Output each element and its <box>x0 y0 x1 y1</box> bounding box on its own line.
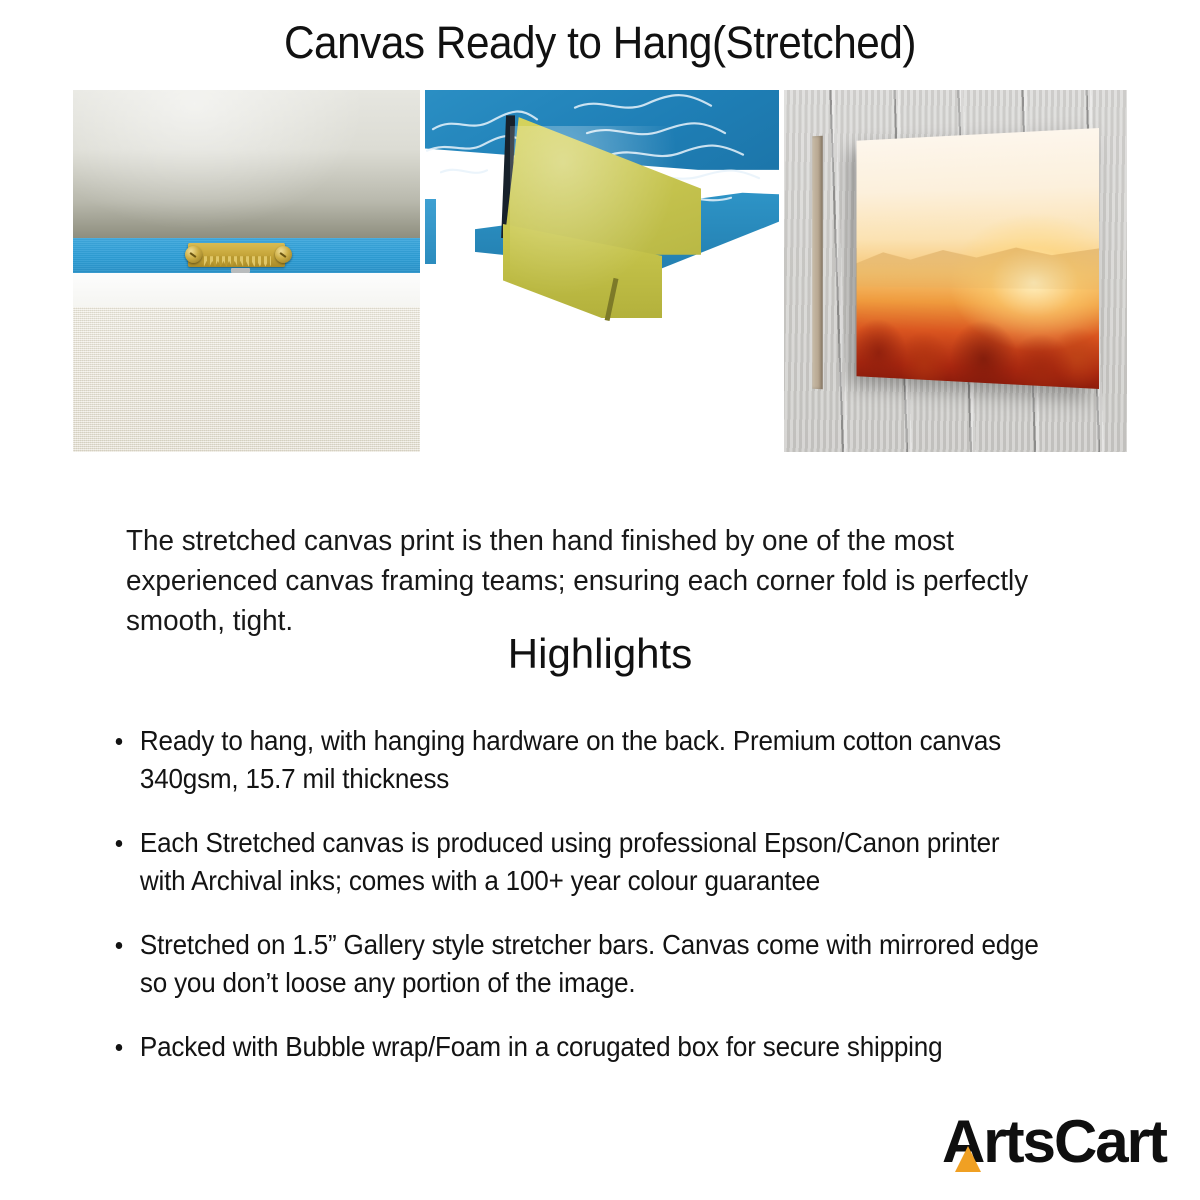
list-item: Ready to hang, with hanging hardware on … <box>112 722 1042 798</box>
page-title: Canvas Ready to Hang(Stretched) <box>36 16 1164 70</box>
triangle-icon <box>955 1146 981 1172</box>
hanger-clip <box>231 268 250 273</box>
bullet-dot-icon <box>116 840 123 847</box>
product-image-gallery <box>73 90 1127 452</box>
highlights-list: Ready to hang, with hanging hardware on … <box>112 722 1112 1092</box>
bullet-dot-icon <box>116 942 123 949</box>
canvas-white-margin <box>73 273 420 311</box>
gallery-image-hung-canvas-sunset <box>784 90 1127 452</box>
canvas-cotton-face <box>73 307 420 452</box>
list-item: Each Stretched canvas is produced using … <box>112 824 1042 900</box>
list-item-text: Packed with Bubble wrap/Foam in a coruga… <box>140 1031 942 1062</box>
screw-icon <box>185 246 202 263</box>
foreground-foliage <box>857 296 1100 389</box>
list-item: Stretched on 1.5” Gallery style stretche… <box>112 926 1042 1002</box>
sawtooth-hanger-icon <box>188 243 285 266</box>
highlights-heading: Highlights <box>0 628 1200 680</box>
backing-highlight <box>73 90 420 238</box>
canvas-depth-side <box>812 135 822 389</box>
brand-logo: ArtsCart <box>942 1112 1166 1174</box>
list-item: Packed with Bubble wrap/Foam in a coruga… <box>112 1028 1042 1066</box>
gallery-image-corner-fold-detail <box>425 90 779 452</box>
hung-canvas-print <box>857 128 1100 389</box>
bullet-dot-icon <box>116 1044 123 1051</box>
product-description: The stretched canvas print is then hand … <box>126 521 1038 641</box>
list-item-text: Stretched on 1.5” Gallery style stretche… <box>140 929 1039 998</box>
list-item-text: Ready to hang, with hanging hardware on … <box>140 725 1001 794</box>
gallery-image-canvas-back-hanger <box>73 90 420 452</box>
bullet-dot-icon <box>116 738 123 745</box>
list-item-text: Each Stretched canvas is produced using … <box>140 827 999 896</box>
canvas-left-stub <box>425 199 436 264</box>
